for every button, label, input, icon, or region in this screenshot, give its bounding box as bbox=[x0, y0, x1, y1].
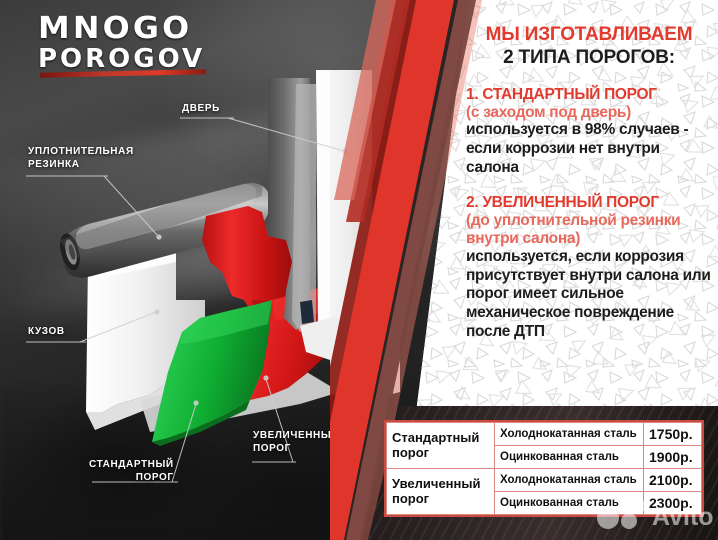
label-body: КУЗОВ bbox=[28, 326, 65, 339]
advertisement-banner: ДВЕРЬ УПЛОТНИТЕЛЬНАЯ РЕЗИНКА КУЗОВ СТАНД… bbox=[0, 0, 718, 540]
section-increased-title: 2. УВЕЛИЧЕННЫЙ ПОРОГ bbox=[466, 194, 712, 212]
label-standard-sill: СТАНДАРТНЫЙ ПОРОГ bbox=[89, 459, 174, 484]
price-material: Оцинкованная сталь bbox=[495, 492, 644, 515]
price-type-increased: Увеличенный порог bbox=[387, 469, 495, 515]
price-material: Холоднокатанная сталь bbox=[495, 423, 644, 446]
logo-line-2: POROGOV bbox=[38, 46, 218, 72]
brand-logo: MNOGO POROGOV bbox=[38, 14, 218, 76]
label-increased-sill: УВЕЛИЧЕННЫЙ ПОРОГ bbox=[253, 430, 339, 455]
door-clip bbox=[300, 300, 314, 324]
section-standard-body: используется в 98% случаев - если корроз… bbox=[466, 121, 712, 177]
section-standard-subtitle: (с заходом под дверь) bbox=[466, 104, 712, 122]
headline-line-1: МЫ ИЗГОТАВЛИВАЕМ bbox=[466, 24, 712, 45]
section-standard-title: 1. СТАНДАРТНЫЙ ПОРОГ bbox=[466, 86, 712, 104]
price-material: Холоднокатанная сталь bbox=[495, 469, 644, 492]
table-row: Увеличенный порог Холоднокатанная сталь … bbox=[387, 469, 702, 492]
price-value: 1750р. bbox=[644, 423, 702, 446]
price-table: Стандартный порог Холоднокатанная сталь … bbox=[386, 422, 702, 515]
section-increased-body: используется, если коррозия присутствует… bbox=[466, 248, 712, 341]
section-increased: 2. УВЕЛИЧЕННЫЙ ПОРОГ (до уплотнительной … bbox=[466, 194, 712, 341]
price-value: 2100р. bbox=[644, 469, 702, 492]
info-text-block: МЫ ИЗГОТАВЛИВАЕМ 2 ТИПА ПОРОГОВ: 1. СТАН… bbox=[466, 24, 712, 341]
label-sealing-rubber: УПЛОТНИТЕЛЬНАЯ РЕЗИНКА bbox=[28, 146, 134, 171]
section-standard: 1. СТАНДАРТНЫЙ ПОРОГ (с заходом под двер… bbox=[466, 86, 712, 178]
price-material: Оцинкованная сталь bbox=[495, 446, 644, 469]
logo-line-1: MNOGO bbox=[38, 14, 229, 44]
price-value: 1900р. bbox=[644, 446, 702, 469]
price-type-standard: Стандартный порог bbox=[387, 423, 495, 469]
headline-line-2: 2 ТИПА ПОРОГОВ: bbox=[466, 47, 712, 68]
table-row: Стандартный порог Холоднокатанная сталь … bbox=[387, 423, 702, 446]
price-value: 2300р. bbox=[644, 492, 702, 515]
label-door: ДВЕРЬ bbox=[182, 103, 220, 116]
door-edge-highlight bbox=[292, 84, 316, 332]
section-increased-subtitle: (до уплотнительной резинки внутри салона… bbox=[466, 212, 712, 248]
